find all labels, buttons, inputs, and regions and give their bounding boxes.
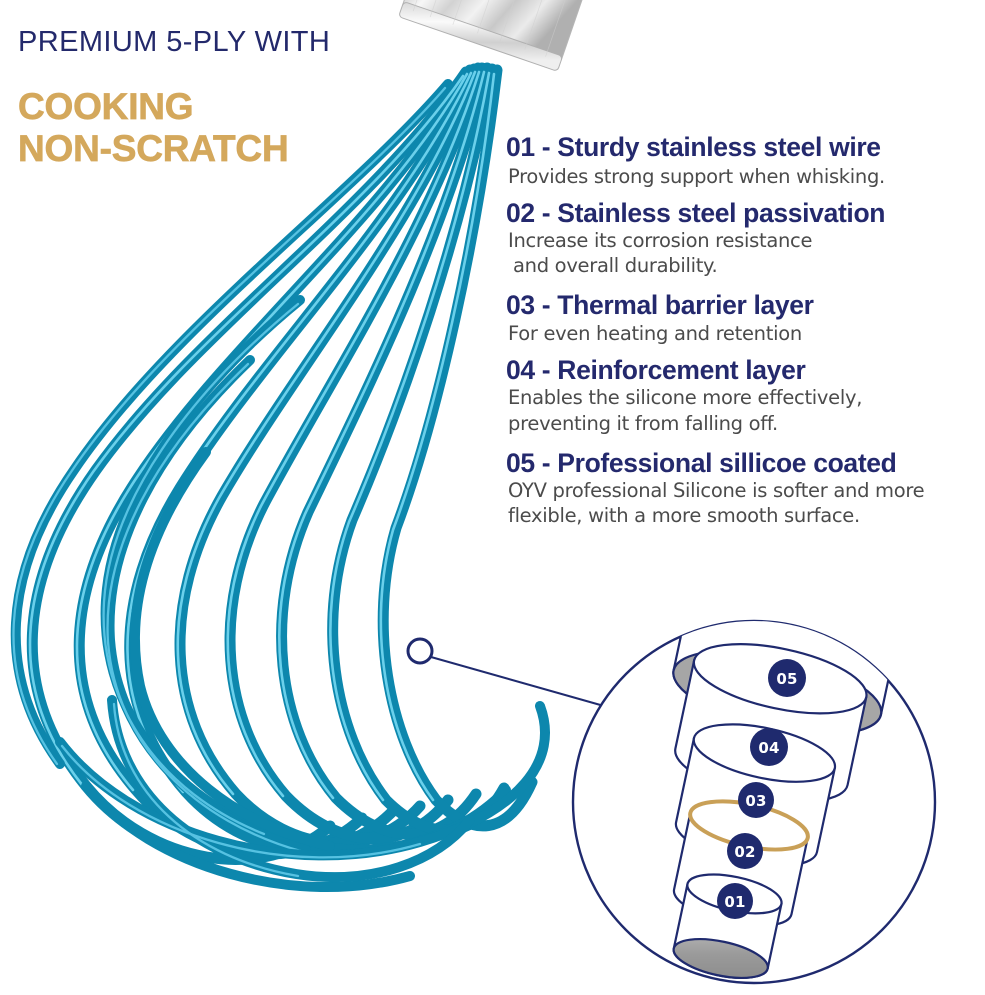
headline-block: PREMIUM 5-PLY WITH COOKING NON-SCRATCH	[18, 28, 448, 170]
feature-item-03: 03 - Thermal barrier layer For even heat…	[506, 290, 984, 346]
feature-title-05: 05 - Professional sillicoe coated	[506, 448, 984, 478]
feature-desc-04-line-1: Enables the silicone more effectively,	[508, 385, 984, 410]
cutaway-badge-02-label: 02	[734, 843, 755, 861]
cutaway-badge-05-label: 05	[776, 670, 797, 688]
infographic-page: PREMIUM 5-PLY WITH COOKING NON-SCRATCH 0…	[0, 0, 985, 995]
feature-desc-02-line-2: and overall durability.	[513, 253, 984, 278]
feature-title-03: 03 - Thermal barrier layer	[506, 290, 984, 320]
feature-item-01: 01 - Sturdy stainless steel wire Provide…	[506, 132, 984, 190]
feature-desc-03-line-1: For even heating and retention	[508, 321, 984, 346]
cutaway-badge-05: 05	[768, 659, 806, 697]
cutaway-badge-03: 03	[738, 782, 774, 818]
feature-item-05: 05 - Professional sillicoe coated OYV pr…	[506, 448, 984, 529]
cutaway-badge-04-label: 04	[758, 739, 779, 757]
cutaway-badge-02: 02	[727, 833, 763, 869]
headline-non-scratch: NON-SCRATCH	[18, 128, 448, 169]
feature-title-02: 02 - Stainless steel passivation	[506, 198, 984, 228]
cutaway-badge-03-label: 03	[745, 792, 766, 810]
feature-desc-05-line-1: OYV professional Silicone is softer and …	[508, 478, 984, 503]
feature-title-01: 01 - Sturdy stainless steel wire	[506, 132, 984, 162]
cutaway-badge-01: 01	[717, 883, 753, 919]
feature-item-02: 02 - Stainless steel passivation Increas…	[506, 198, 984, 279]
feature-title-04: 04 - Reinforcement layer	[506, 355, 984, 385]
feature-desc-01-line-1: Provides strong support when whisking.	[508, 164, 984, 189]
headline-cooking: COOKING	[18, 86, 448, 127]
feature-desc-04-line-2: preventing it from falling off.	[508, 411, 984, 436]
feature-desc-05-line-2: flexible, with a more smooth surface.	[508, 503, 984, 528]
cutaway-badge-01-label: 01	[724, 893, 745, 911]
feature-list: 01 - Sturdy stainless steel wire Provide…	[506, 132, 984, 531]
headline-premium: PREMIUM 5-PLY WITH	[18, 28, 448, 57]
layer-cutaway-callout: 05 04 03 02 01	[390, 600, 985, 995]
feature-item-04: 04 - Reinforcement layer Enables the sil…	[506, 355, 984, 436]
cutaway-badge-04: 04	[750, 728, 788, 766]
feature-desc-02-line-1: Increase its corrosion resistance	[508, 228, 984, 253]
